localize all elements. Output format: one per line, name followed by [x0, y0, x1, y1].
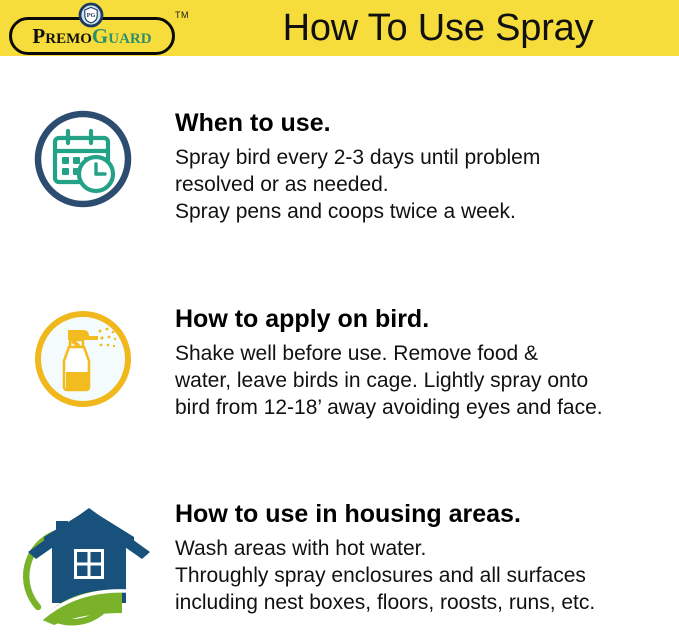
section-heading: When to use. [175, 108, 675, 138]
section-lines: Spray bird every 2-3 days until problem … [175, 144, 675, 225]
logo-word-one: Premo [32, 24, 92, 48]
section-line: bird from 12-18’ away avoiding eyes and … [175, 394, 675, 421]
trademark-mark: TM [175, 10, 189, 20]
spray-bottle-icon [24, 300, 144, 420]
section-line: Spray bird every 2-3 days until problem [175, 144, 675, 171]
section-line: water, leave birds in cage. Lightly spra… [175, 367, 675, 394]
brand-logo: PG PremoGuard TM [6, 2, 192, 58]
section-lines: Shake well before use. Remove food & wat… [175, 340, 675, 421]
section-line: including nest boxes, floors, roosts, ru… [175, 589, 675, 616]
logo-word-two: Guard [92, 24, 152, 48]
section-line: Shake well before use. Remove food & [175, 340, 675, 367]
section-line: resolved or as needed. [175, 171, 675, 198]
section-heading: How to use in housing areas. [175, 499, 675, 529]
page-title: How To Use Spray [208, 2, 668, 54]
section-heading: How to apply on bird. [175, 304, 675, 334]
section-body: When to use. Spray bird every 2-3 days u… [175, 108, 675, 225]
section-line: Throughly spray enclosures and all surfa… [175, 562, 675, 589]
section-body: How to apply on bird. Shake well before … [175, 304, 675, 421]
section-line: Wash areas with hot water. [175, 535, 675, 562]
logo-wordmark: PremoGuard [9, 17, 175, 55]
calendar-clock-icon [24, 100, 144, 220]
section-lines: Wash areas with hot water. Throughly spr… [175, 535, 675, 616]
house-leaf-icon [14, 495, 164, 630]
section-line: Spray pens and coops twice a week. [175, 198, 675, 225]
section-body: How to use in housing areas. Wash areas … [175, 499, 675, 616]
